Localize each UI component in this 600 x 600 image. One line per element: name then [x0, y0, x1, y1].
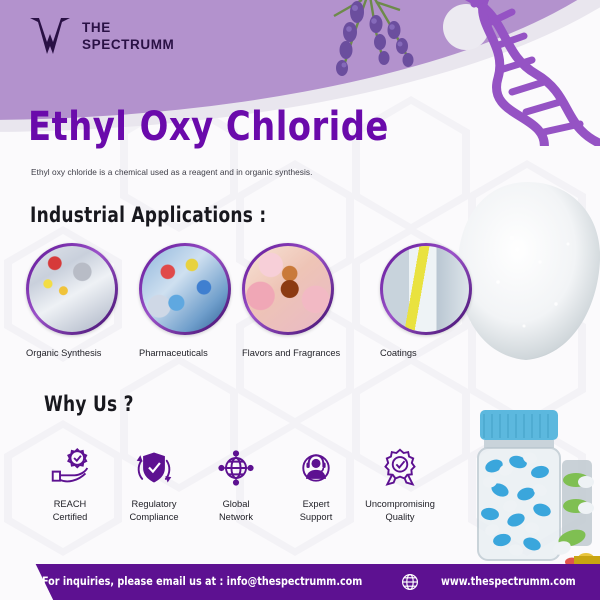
application-item-organic-synthesis[interactable]: Organic Synthesis — [26, 243, 126, 358]
footer-bar: For inquiries, please email us at : info… — [0, 564, 600, 600]
page-title: Ethyl Oxy Chloride — [28, 104, 389, 150]
applications-list: Organic Synthesis Pharmaceuticals Flavor… — [0, 243, 470, 368]
application-item-flavors-and-fragrances[interactable]: Flavors and Fragrances — [242, 243, 342, 358]
w-crown-logo-icon — [27, 16, 73, 58]
brand-name: THE SPECTRUMM — [82, 20, 174, 54]
feature-item-reach-certified[interactable]: REACH Certified — [22, 446, 118, 525]
brand-name-line1: THE — [82, 20, 174, 37]
headset-support-agent-icon — [268, 446, 364, 490]
why-us-list: REACH Certified Regulatory — [0, 446, 470, 552]
industrial-coating-spray-photo — [383, 246, 469, 332]
applications-heading: Industrial Applications : — [30, 203, 266, 227]
application-label: Pharmaceuticals — [139, 348, 239, 358]
pill-jar-icon — [466, 398, 600, 574]
lavender-sprig-icon — [300, 0, 436, 110]
page-subtitle: Ethyl oxy chloride is a chemical used as… — [31, 167, 312, 177]
application-label: Coatings — [380, 348, 480, 358]
application-image-ring — [139, 243, 231, 335]
hand-certificate-badge-icon — [22, 446, 118, 490]
application-item-pharmaceuticals[interactable]: Pharmaceuticals — [139, 243, 239, 358]
feature-label: REACH Certified — [22, 498, 118, 525]
application-image-ring — [242, 243, 334, 335]
award-ribbon-check-icon — [352, 446, 448, 490]
feature-item-uncompromising-quality[interactable]: Uncompromising Quality — [352, 446, 448, 525]
why-us-heading: Why Us ? — [44, 392, 134, 416]
application-image-ring — [380, 243, 472, 335]
application-label: Organic Synthesis — [26, 348, 126, 358]
globe-icon — [401, 573, 419, 591]
footer-accent-bar — [574, 556, 600, 564]
dna-helix-icon — [440, 0, 600, 146]
footer-email-text[interactable]: For inquiries, please email us at : info… — [42, 574, 362, 588]
application-image-ring — [26, 243, 118, 335]
application-label: Flavors and Fragrances — [242, 348, 342, 358]
brand-logo[interactable]: THE SPECTRUMM — [27, 16, 174, 58]
feature-label: Uncompromising Quality — [352, 498, 448, 525]
lab-technician-vials-photo — [29, 246, 115, 332]
brand-name-line2: SPECTRUMM — [82, 37, 174, 54]
infographic-poster: THE SPECTRUMM Ethyl Oxy Chloride Ethyl o… — [0, 0, 600, 600]
feature-label: Expert Support — [268, 498, 364, 525]
rose-perfume-bottle-photo — [245, 246, 331, 332]
footer-website-link[interactable]: www.thespectrumm.com — [441, 574, 576, 588]
application-item-coatings[interactable]: Coatings — [380, 243, 480, 358]
pharmaceutical-capsules-photo — [142, 246, 228, 332]
feature-item-expert-support[interactable]: Expert Support — [268, 446, 364, 525]
